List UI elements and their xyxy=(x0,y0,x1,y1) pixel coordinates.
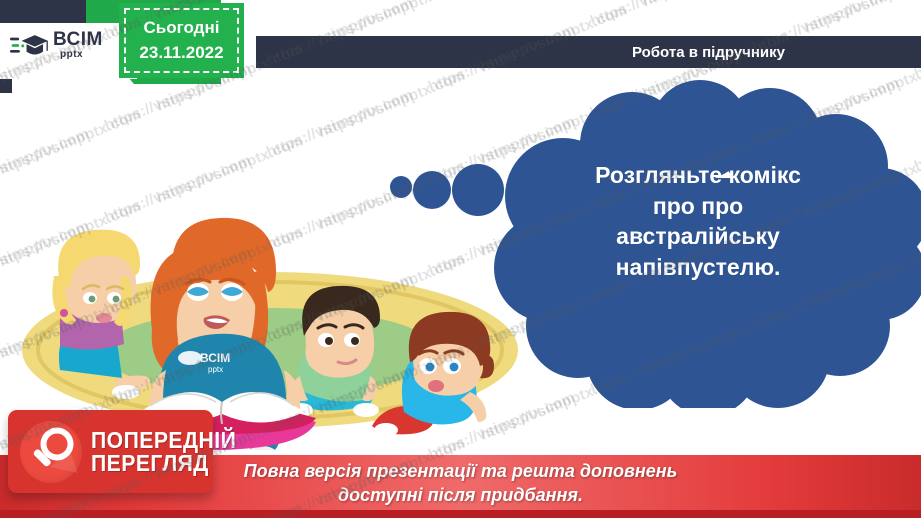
logo[interactable]: ВСІМ pptx xyxy=(10,30,103,60)
preview-badge[interactable]: ПОПЕРЕДНІЙ ПЕРЕГЛЯД xyxy=(8,410,213,493)
logo-sub-text: pptx xyxy=(60,50,103,60)
date-badge-label: Сьогодні xyxy=(144,16,220,41)
bubble-line-2: про про xyxy=(548,191,848,222)
footer-line-1: Повна версія презентації та решта доповн… xyxy=(244,460,678,483)
preview-line-1: ПОПЕРЕДНІЙ xyxy=(91,429,236,452)
svg-text:ВСІМ: ВСІМ xyxy=(200,351,230,365)
header-title-bar: Робота в підручнику xyxy=(256,36,921,68)
slide-canvas: ВСІМ pptx xyxy=(0,0,921,518)
footer-line-2: доступні після придбання. xyxy=(244,484,678,507)
bubble-line-3: австралійську xyxy=(548,221,848,252)
page-title: Робота в підручнику xyxy=(632,44,785,61)
bubble-line-1: Розгляньте комікс xyxy=(548,160,848,191)
date-badge-value: 23.11.2022 xyxy=(139,41,223,66)
date-badge: Сьогодні 23.11.2022 xyxy=(119,3,244,78)
bubble-line-4: напівпустелю. xyxy=(548,252,848,283)
svg-text:pptx: pptx xyxy=(208,365,223,374)
logo-brand-text: ВСІМ xyxy=(53,30,103,49)
preview-badge-text: ПОПЕРЕДНІЙ ПЕРЕГЛЯД xyxy=(91,429,249,475)
thought-bubble-tail-dots xyxy=(390,164,504,216)
footer-text: Повна версія презентації та решта доповн… xyxy=(244,460,678,507)
magnifier-icon xyxy=(20,421,82,483)
graduation-cap-icon xyxy=(10,30,48,60)
preview-line-2: ПЕРЕГЛЯД xyxy=(91,452,236,475)
thought-bubble-text: Розгляньте комікс про про австралійську … xyxy=(548,160,848,282)
